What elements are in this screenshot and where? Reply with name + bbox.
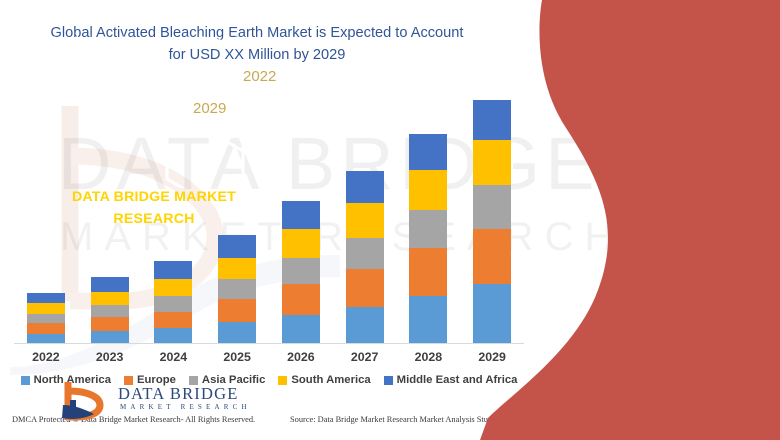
bar-segment[interactable] [154, 312, 192, 328]
bar-segment[interactable] [282, 284, 320, 314]
hexagon-2029-shape [167, 113, 243, 188]
bar-segment[interactable] [346, 171, 384, 203]
bar-segment[interactable] [409, 210, 447, 248]
legend-label: South America [291, 374, 370, 386]
bar-segment[interactable] [91, 305, 129, 317]
company-logo: DATA BRIDGE MARKET RESEARCH [60, 382, 270, 426]
bar-segment[interactable] [218, 235, 256, 258]
bar-segment[interactable] [154, 279, 192, 296]
brand-name: DATA BRIDGE MARKET RESEARCH [20, 186, 288, 230]
stacked-bar[interactable] [218, 235, 256, 343]
bar-column-2027[interactable] [333, 96, 397, 343]
x-axis-label-2024: 2024 [142, 350, 206, 364]
bar-segment[interactable] [91, 317, 129, 330]
legend-swatch-icon [278, 376, 287, 385]
bar-segment[interactable] [154, 296, 192, 311]
bar-segment[interactable] [218, 279, 256, 299]
logo-title: DATA BRIDGE [118, 384, 239, 404]
bar-segment[interactable] [346, 203, 384, 237]
panel-title: Global Activated Bleaching Earth Market,… [20, 10, 288, 52]
bar-segment[interactable] [91, 292, 129, 305]
bar-segment[interactable] [346, 269, 384, 307]
bar-segment[interactable] [218, 322, 256, 343]
x-axis-labels: 20222023202420252026202720282029 [14, 350, 524, 364]
stacked-bar[interactable] [91, 277, 129, 343]
hexagon-2029-label: 2029 [193, 100, 226, 117]
bar-segment[interactable] [91, 331, 129, 343]
bar-segment[interactable] [27, 303, 65, 313]
bar-segment[interactable] [218, 258, 256, 280]
panel-title-line-1: Global Activated Bleaching Earth [20, 10, 288, 31]
bar-segment[interactable] [27, 334, 65, 344]
x-axis-label-2028: 2028 [397, 350, 461, 364]
brand-panel [480, 0, 780, 440]
bar-segment[interactable] [282, 229, 320, 258]
logo-subtitle: MARKET RESEARCH [120, 403, 251, 411]
stacked-bar[interactable] [409, 134, 447, 343]
bar-segment[interactable] [154, 328, 192, 343]
brand-name-line-1: DATA BRIDGE MARKET [20, 186, 288, 208]
bar-segment[interactable] [282, 258, 320, 285]
bar-segment[interactable] [346, 238, 384, 269]
x-axis-label-2023: 2023 [78, 350, 142, 364]
stacked-bar[interactable] [154, 261, 192, 343]
bar-segment[interactable] [154, 261, 192, 279]
bar-segment[interactable] [409, 170, 447, 210]
bar-segment[interactable] [91, 277, 129, 291]
x-axis-line [14, 343, 524, 344]
logo-mark-icon [60, 382, 112, 422]
brand-name-line-2: RESEARCH [20, 208, 288, 230]
x-axis-label-2027: 2027 [333, 350, 397, 364]
bar-segment[interactable] [27, 323, 65, 333]
legend-swatch-icon [384, 376, 393, 385]
bar-segment[interactable] [218, 299, 256, 322]
panel-title-line-2: Market, By Regions, 2022 to 2029 [20, 31, 288, 52]
bar-segment[interactable] [27, 314, 65, 324]
bar-segment[interactable] [409, 296, 447, 344]
hexagon-2022-shape [224, 86, 286, 158]
bar-segment[interactable] [409, 248, 447, 296]
bar-segment[interactable] [346, 307, 384, 343]
stacked-bar[interactable] [27, 293, 65, 343]
infographic-canvas: DATA BRIDGE MARKET RESEARCH Global Activ… [0, 0, 780, 440]
hexagon-badges [0, 78, 300, 188]
x-axis-label-2025: 2025 [205, 350, 269, 364]
bar-segment[interactable] [282, 315, 320, 344]
x-axis-label-2022: 2022 [14, 350, 78, 364]
bar-segment[interactable] [409, 134, 447, 170]
bar-segment[interactable] [27, 293, 65, 303]
hexagon-2022-label: 2022 [243, 68, 276, 85]
bar-column-2028[interactable] [397, 96, 461, 343]
legend-swatch-icon [21, 376, 30, 385]
legend-item[interactable]: South America [278, 374, 370, 386]
x-axis-label-2026: 2026 [269, 350, 333, 364]
stacked-bar[interactable] [346, 171, 384, 343]
